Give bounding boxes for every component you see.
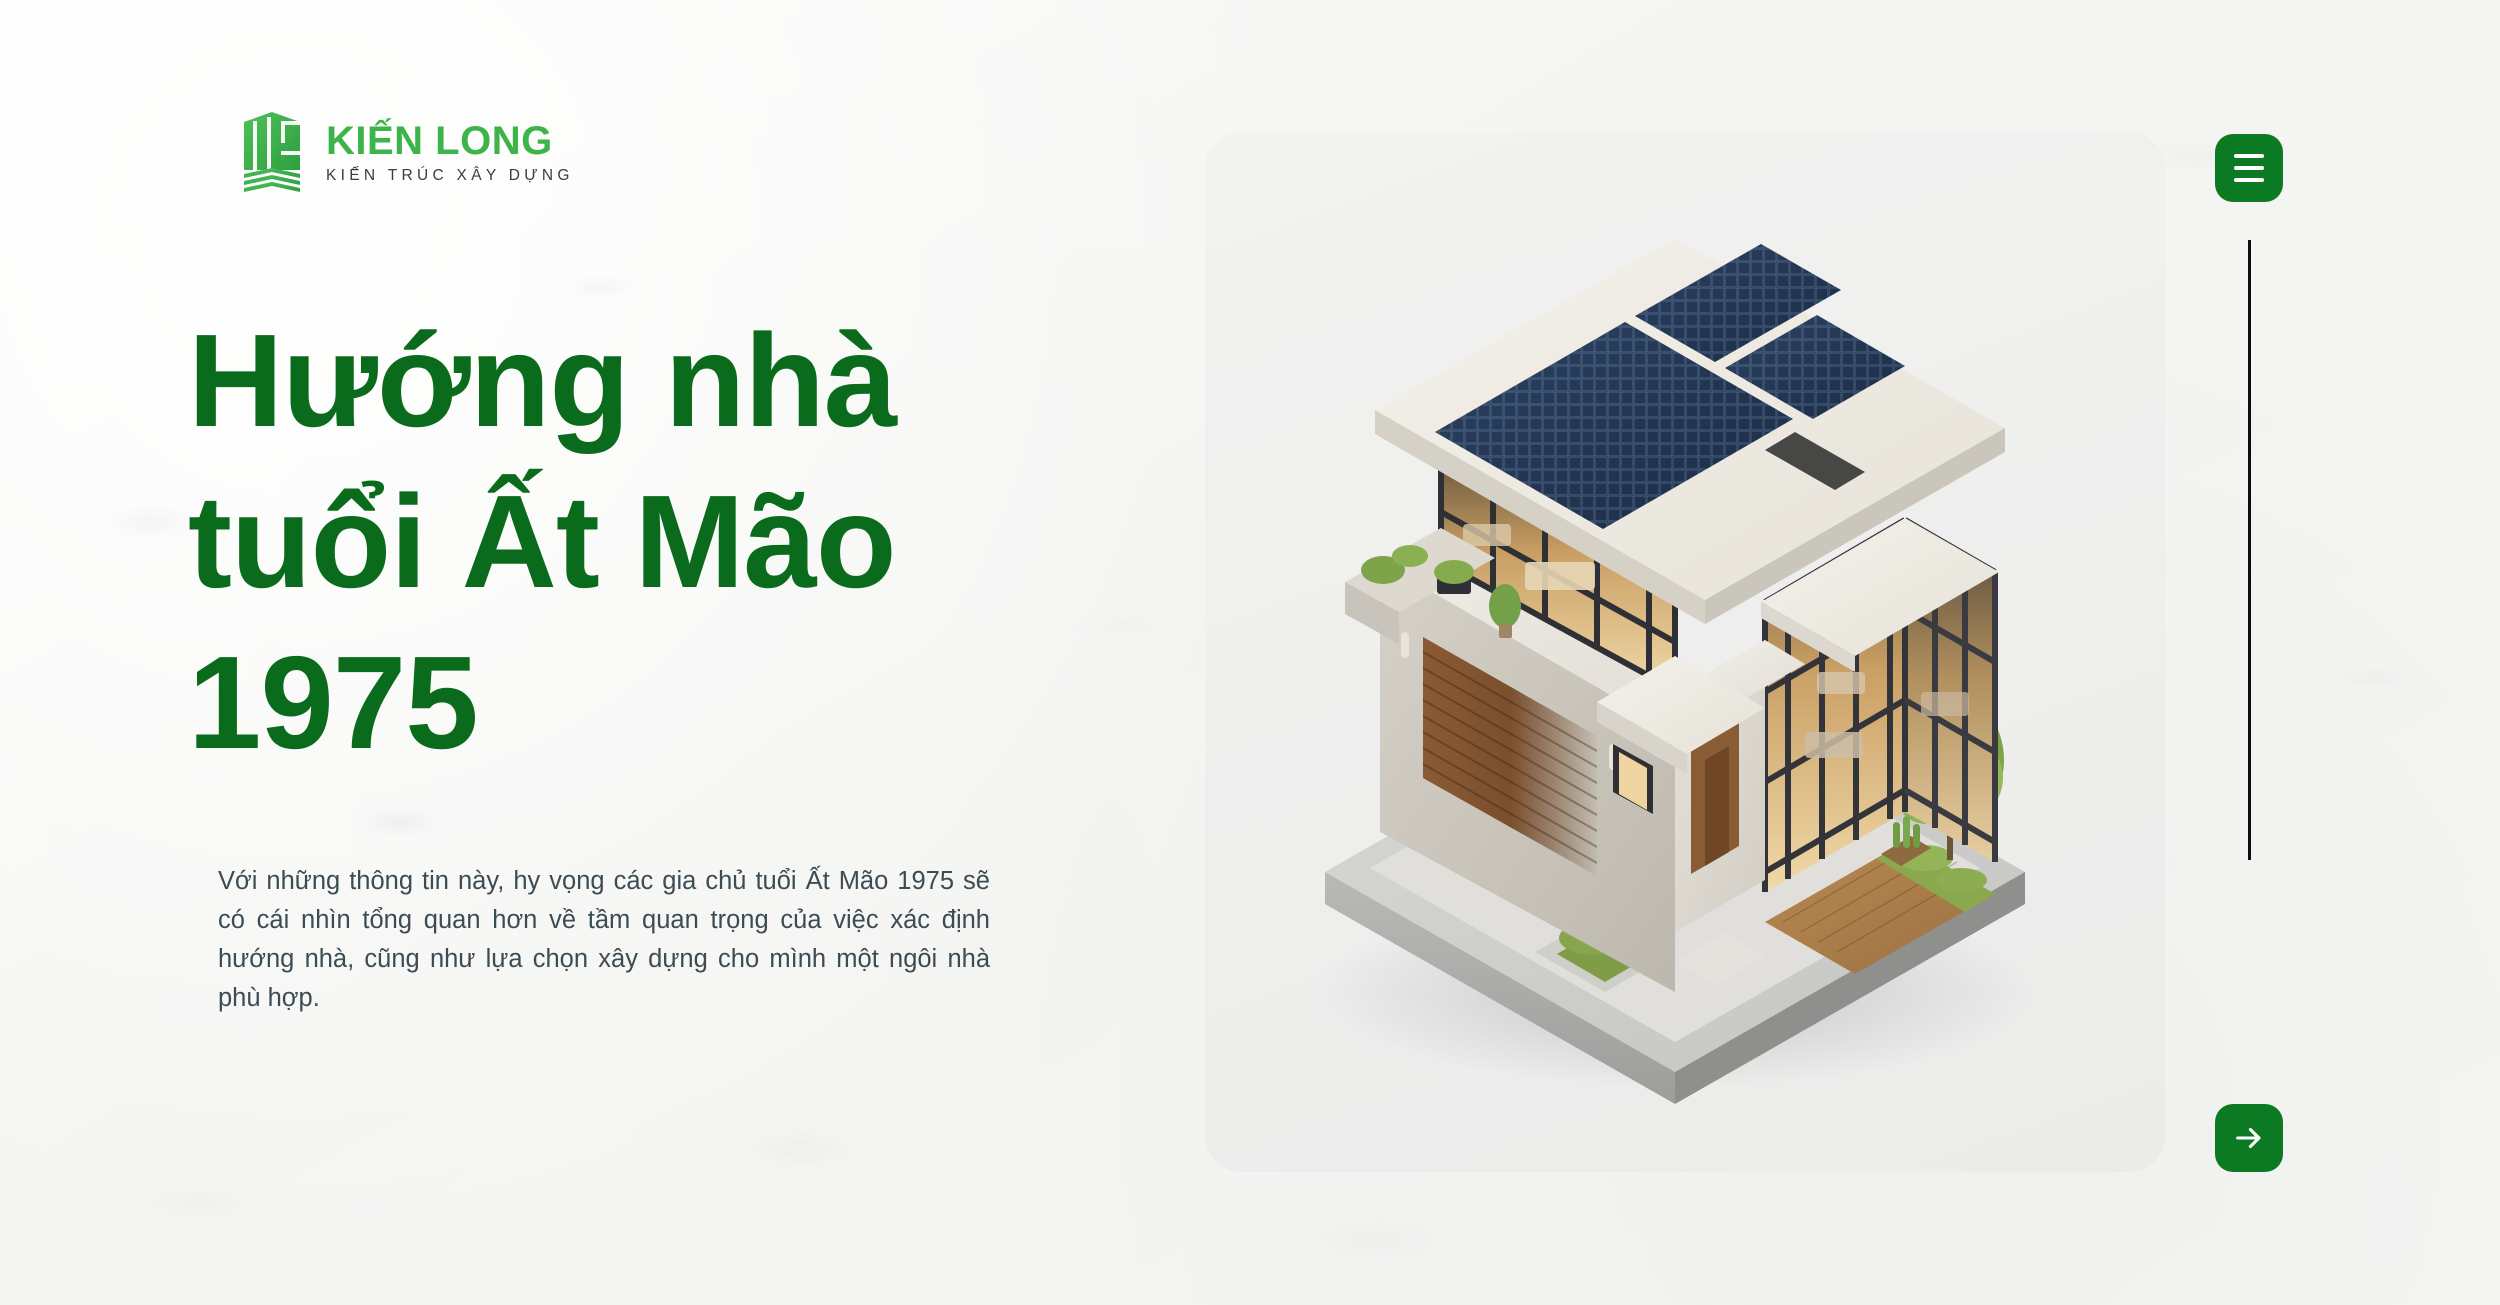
isometric-house-illustration	[1205, 132, 2165, 1172]
headline-line-1: Hướng nhà	[188, 300, 1128, 461]
brand-text-group: KIẾN LONG KIẾN TRÚC XÂY DỰNG	[326, 119, 574, 185]
hamburger-menu-icon-bar-3	[2234, 178, 2264, 182]
slide-root: KIẾN LONG KIẾN TRÚC XÂY DỰNG Hướng nhà t…	[0, 0, 2500, 1305]
vertical-divider	[2248, 240, 2251, 860]
hamburger-menu-button[interactable]	[2215, 134, 2283, 202]
hamburger-menu-icon	[2234, 154, 2264, 158]
headline-line-3: 1975	[188, 622, 1128, 783]
hero-image-card	[1205, 132, 2165, 1172]
headline-line-2: tuổi Ất Mão	[188, 461, 1128, 622]
next-slide-button[interactable]	[2215, 1104, 2283, 1172]
brand-logo[interactable]: KIẾN LONG KIẾN TRÚC XÂY DỰNG	[236, 108, 574, 196]
page-title: Hướng nhà tuổi Ất Mão 1975	[188, 300, 1128, 783]
arrow-right-icon	[2232, 1121, 2266, 1155]
hamburger-menu-icon-bar-2	[2234, 166, 2264, 170]
brand-tagline: KIẾN TRÚC XÂY DỰNG	[326, 167, 574, 185]
brand-wordmark: KIẾN LONG	[326, 121, 574, 162]
lead-paragraph: Với những thông tin này, hy vọng các gia…	[218, 862, 990, 1018]
building-tower-icon	[236, 108, 308, 196]
